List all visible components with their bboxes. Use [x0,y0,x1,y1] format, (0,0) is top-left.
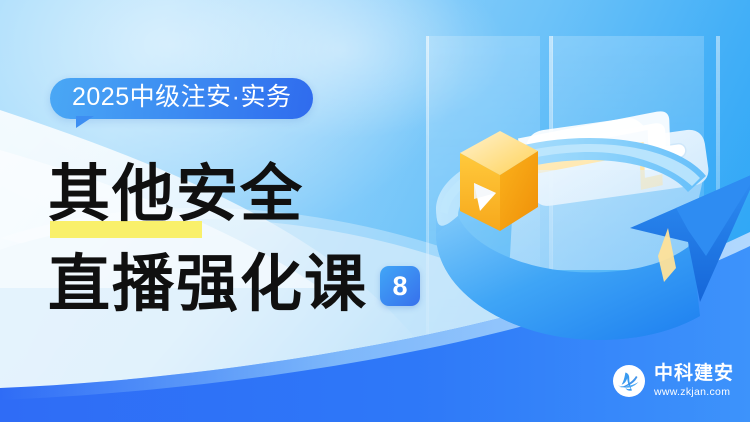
brand-logo: 中科建安 www.zkjan.com [612,364,734,398]
headline-line-2-row: 直播强化课 8 [48,253,420,315]
illustration-folder-arrow-cube [400,20,750,360]
logo-text-block: 中科建安 www.zkjan.com [654,364,734,398]
logo-website-url: www.zkjan.com [654,387,734,398]
episode-number-badge: 8 [380,266,420,306]
course-tag-wrapper: 2025中级注安·实务 [50,78,313,119]
logo-brand-name: 中科建安 [654,364,734,383]
course-tag: 2025中级注安·实务 [50,78,313,119]
headline-line-1: 其他安全 [48,163,304,225]
zkjan-circle-logo-icon [612,364,646,398]
headline-line-2: 直播强化课 [48,253,368,315]
course-promo-poster: 2025中级注安·实务 其他安全 直播强化课 8 中科建安 www.zkjan.… [0,0,750,422]
speech-bubble-tail-icon [76,116,94,128]
